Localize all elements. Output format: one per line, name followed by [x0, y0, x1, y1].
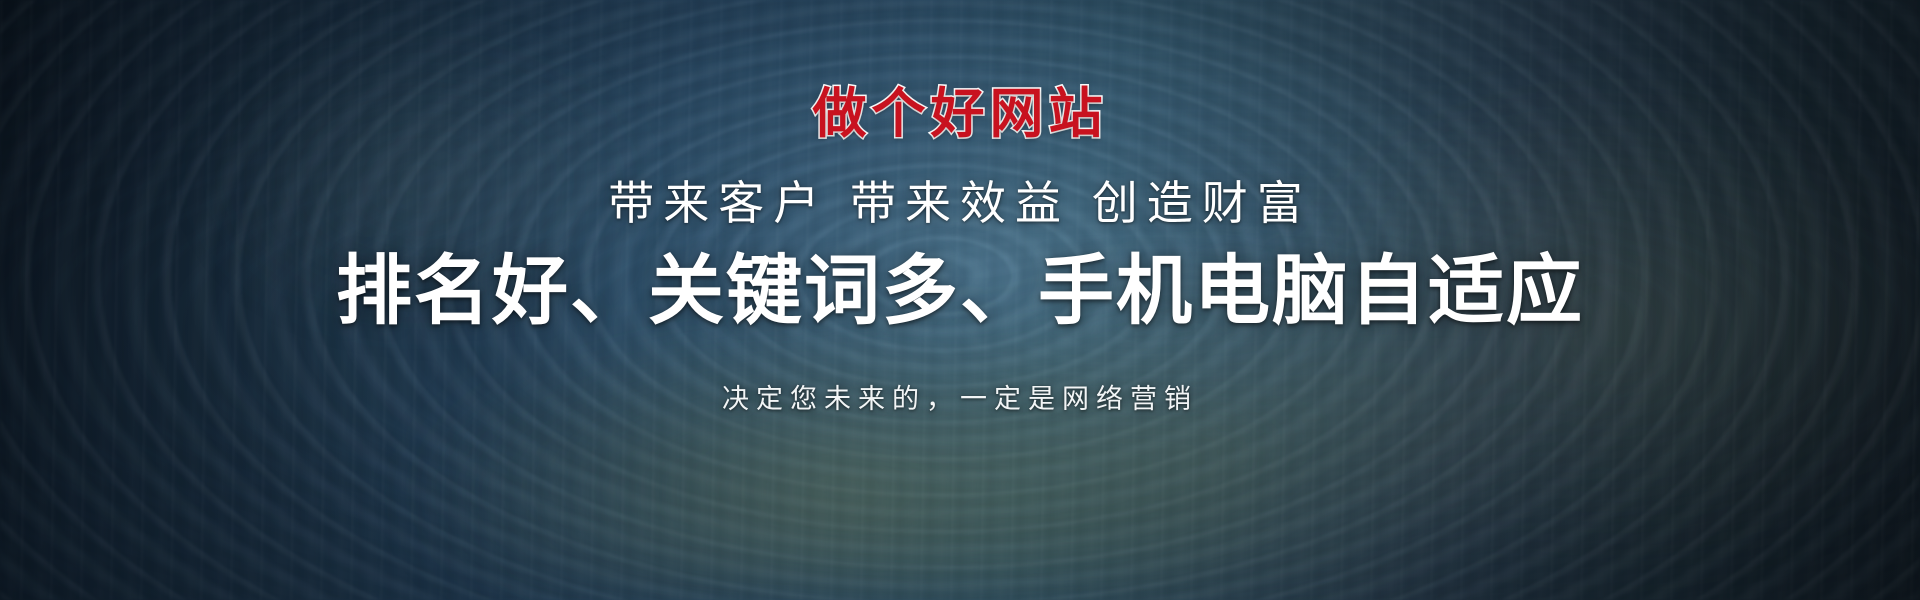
banner-subheadline: 带来客户 带来效益 创造财富: [608, 180, 1312, 226]
banner-tagline: 决定您未来的，一定是网络营销: [722, 386, 1198, 413]
promo-banner: 做个好网站 带来客户 带来效益 创造财富 排名好、关键词多、手机电脑自适应 决定…: [0, 0, 1920, 600]
banner-text-block: 做个好网站 带来客户 带来效益 创造财富 排名好、关键词多、手机电脑自适应 决定…: [0, 0, 1920, 600]
banner-headline: 做个好网站: [813, 86, 1108, 140]
banner-main-message: 排名好、关键词多、手机电脑自适应: [336, 254, 1584, 330]
